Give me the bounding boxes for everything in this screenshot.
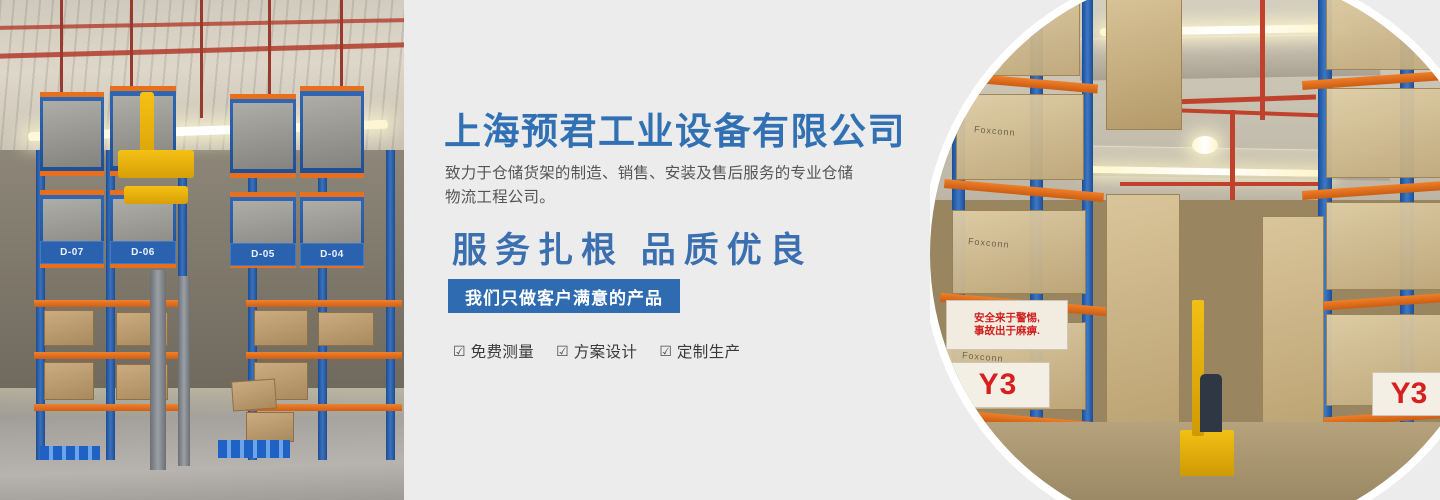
left-photo-back-wall — [0, 140, 404, 400]
cta-button[interactable]: 我们只做客户满意的产品 — [448, 279, 680, 313]
rack-sign: D-05 — [230, 243, 296, 266]
feature-label: 方案设计 — [574, 340, 638, 362]
carton-box — [254, 310, 308, 346]
checkbox-check-icon: ☑ — [556, 344, 569, 358]
rack-beam — [246, 352, 402, 359]
banner-text-panel: 上海预君工业设备有限公司 致力于仓储货架的制造、销售、安装及售后服务的专业仓储物… — [404, 0, 996, 500]
blue-pallet — [40, 446, 100, 460]
company-title: 上海预君工业设备有限公司 — [444, 101, 906, 155]
aisle-marker-sign-edge: Y3 — [1372, 372, 1440, 416]
stacked-goods — [43, 101, 102, 166]
feature-label: 免费测量 — [471, 340, 535, 362]
safety-sign-line-2: 事故出于麻痹. — [974, 325, 1040, 338]
rack-sign: D-07 — [40, 241, 104, 264]
forklift-body — [1180, 430, 1234, 476]
carton-box — [246, 412, 294, 442]
stacked-goods — [233, 103, 294, 168]
rack-sign: D-06 — [110, 241, 176, 264]
pallet-bay — [300, 86, 364, 178]
hero-banner: D-07 D-06 D-05 D-04 上海预君工业设备有限公司 致力于仓储货架… — [0, 0, 1440, 500]
aisle-marker-label: Y3 — [979, 368, 1018, 402]
aisle-marker-sign: Y3 — [946, 362, 1050, 408]
carton-box — [318, 312, 374, 346]
wrapped-pallet — [1106, 0, 1182, 130]
left-warehouse-photo: D-07 D-06 D-05 D-04 — [0, 0, 404, 500]
checkbox-check-icon: ☑ — [659, 344, 672, 358]
right-photo-wrapper: Foxconn Foxconn Foxconn Foxconn — [930, 0, 1440, 500]
rack-beam — [246, 300, 402, 307]
feature-item-custom-production: ☑ 定制生产 — [659, 340, 740, 362]
rack-sign: D-04 — [300, 243, 364, 266]
company-subtitle: 致力于仓储货架的制造、销售、安装及售后服务的专业仓储物流工程公司。 — [445, 162, 865, 210]
forklift-mast — [150, 270, 166, 470]
ceiling-hanger-rod — [200, 0, 203, 118]
blue-pallet — [218, 440, 290, 458]
wrapped-pallet — [1326, 202, 1440, 290]
pendant-lamp — [1192, 136, 1218, 154]
wrapped-pallet — [1326, 0, 1440, 70]
feature-label: 定制生产 — [677, 340, 741, 362]
carton-box — [231, 379, 277, 412]
carton-box — [44, 362, 94, 400]
sprinkler-pipe — [1230, 110, 1235, 200]
aisle-marker-label-edge: Y3 — [1391, 377, 1428, 411]
wrapped-pallet — [956, 94, 1084, 180]
pallet-bay — [40, 92, 104, 176]
forklift-operator — [1200, 374, 1222, 432]
feature-item-plan-design: ☑ 方案设计 — [556, 340, 637, 362]
wrapped-pallet — [1326, 88, 1440, 178]
stacked-goods — [303, 96, 362, 168]
forklift-cab — [118, 150, 194, 178]
safety-warning-sign: 安全来于警惕, 事故出于麻痹. — [946, 300, 1068, 350]
sprinkler-pipe — [1260, 0, 1265, 120]
company-slogan: 服务扎根 品质优良 — [452, 222, 813, 273]
pallet-bay — [230, 94, 296, 178]
forklift-carriage — [124, 186, 188, 204]
right-warehouse-photo: Foxconn Foxconn Foxconn Foxconn — [930, 0, 1440, 500]
carton-box — [44, 310, 94, 346]
checkbox-check-icon: ☑ — [453, 344, 466, 358]
wrapped-pallet — [952, 210, 1086, 294]
feature-list: ☑ 免费测量 ☑ 方案设计 ☑ 定制生产 — [453, 340, 741, 362]
safety-sign-line-1: 安全来于警惕, — [974, 312, 1040, 325]
forklift-mast — [178, 276, 190, 466]
sprinkler-pipe — [1120, 182, 1320, 186]
feature-item-free-measurement: ☑ 免费测量 — [453, 340, 534, 362]
wrapped-pallet — [960, 0, 1080, 76]
